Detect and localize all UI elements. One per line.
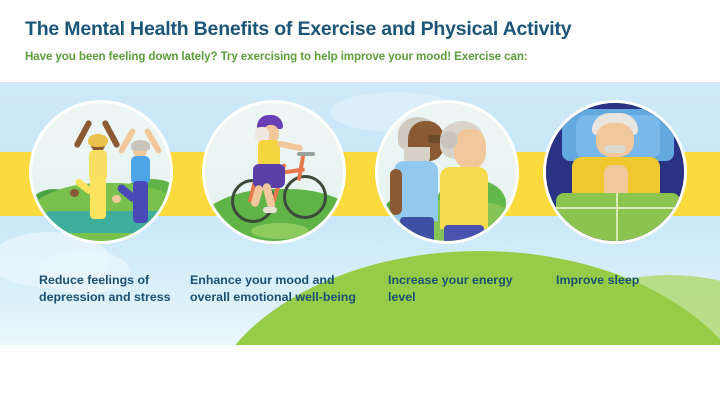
moustache bbox=[604, 145, 626, 153]
benefit-caption-1: Reduce feelings of depression and stress bbox=[39, 272, 189, 305]
page-title: The Mental Health Benefits of Exercise a… bbox=[25, 18, 571, 41]
illustration-circle-walking bbox=[375, 100, 519, 244]
illustration-circle-yoga bbox=[29, 100, 173, 244]
illustration-scene bbox=[0, 82, 720, 345]
bike-handlebar bbox=[297, 152, 315, 156]
torso-top bbox=[89, 150, 107, 180]
shoe bbox=[263, 207, 277, 213]
hair bbox=[131, 140, 150, 151]
shirt bbox=[440, 167, 488, 229]
foot bbox=[70, 189, 79, 197]
infographic-poster: The Mental Health Benefits of Exercise a… bbox=[0, 0, 720, 404]
pants bbox=[444, 225, 484, 244]
illustration-circle-sleep bbox=[543, 100, 687, 244]
grass-patch bbox=[251, 223, 309, 239]
pants bbox=[400, 217, 434, 244]
benefit-caption-2: Enhance your mood and overall emotional … bbox=[190, 272, 370, 305]
hair bbox=[88, 134, 108, 147]
legs bbox=[133, 181, 148, 223]
poster-footer: To learn more about the benefits of exer… bbox=[0, 345, 720, 404]
bike-wheel-front bbox=[283, 175, 327, 219]
page-subtitle: Have you been feeling down lately? Try e… bbox=[25, 50, 528, 63]
arm bbox=[390, 169, 402, 215]
head bbox=[454, 129, 486, 169]
illustration-circle-bicycle bbox=[202, 100, 346, 244]
benefit-caption-3: Increase your energy level bbox=[388, 272, 538, 305]
benefit-caption-4: Improve sleep bbox=[556, 272, 716, 289]
blanket bbox=[556, 193, 680, 244]
blanket-stripe bbox=[616, 193, 618, 244]
foot bbox=[112, 195, 121, 203]
torso-top bbox=[131, 156, 150, 184]
blanket-stripe bbox=[556, 207, 680, 209]
hair-bun bbox=[440, 131, 458, 149]
legs bbox=[90, 177, 106, 219]
poster-header: The Mental Health Benefits of Exercise a… bbox=[0, 0, 720, 82]
